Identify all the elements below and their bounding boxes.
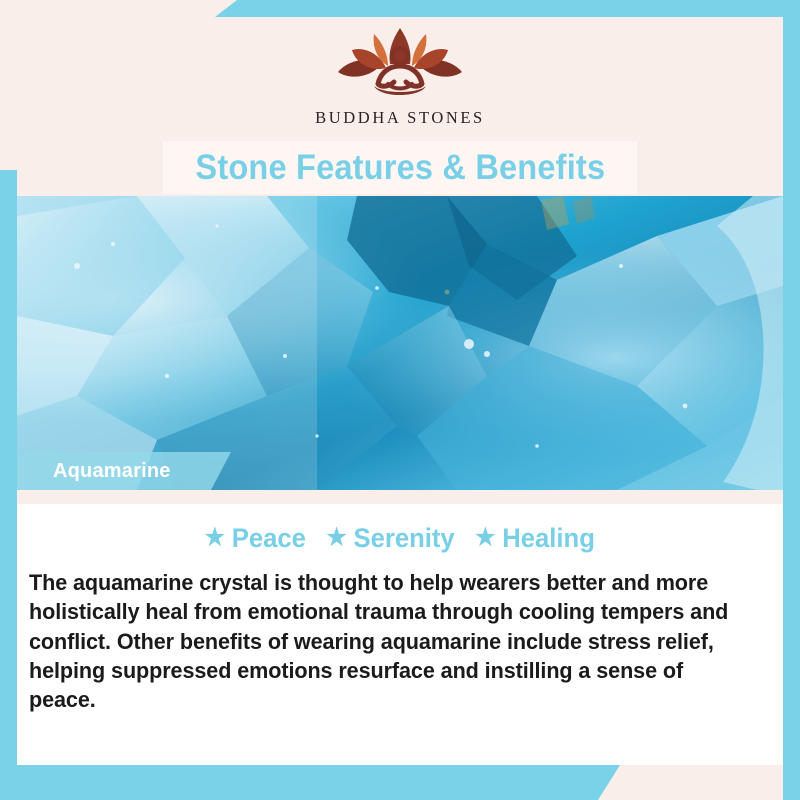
star-icon: ★ <box>475 526 495 550</box>
keyword-label: Healing <box>502 523 595 554</box>
stone-name-label: Aquamarine <box>53 460 171 483</box>
brand-wordmark: BUDDHA STONES <box>315 108 485 128</box>
frame-left-accent <box>0 170 17 800</box>
star-icon: ★ <box>205 526 225 550</box>
keyword-list: ★ Peace ★ Serenity ★ Healing <box>17 514 783 562</box>
keyword-item-serenity: ★ Serenity <box>326 523 454 554</box>
frame-bottom-accent <box>0 765 620 800</box>
keyword-item-healing: ★ Healing <box>475 523 595 554</box>
content-area: ★ Peace ★ Serenity ★ Healing The aquamar… <box>17 504 783 765</box>
frame-top-accent <box>215 0 800 17</box>
hero-image <box>17 196 783 490</box>
frame-right-accent <box>783 0 800 800</box>
divider-strip <box>17 490 783 504</box>
star-icon: ★ <box>326 526 346 550</box>
aquamarine-crystal-photo <box>17 196 783 490</box>
description-text: The aquamarine crystal is thought to hel… <box>29 568 741 714</box>
brand-logo: BUDDHA STONES <box>0 22 800 128</box>
title-band: Stone Features & Benefits <box>163 141 637 194</box>
page-title: Stone Features & Benefits <box>195 148 605 188</box>
infographic-page: BUDDHA STONES Stone Features & Benefits <box>0 0 800 800</box>
lotus-meditation-figure-icon <box>330 22 470 106</box>
header-left-padding <box>0 0 215 17</box>
stone-name-banner: Aquamarine <box>17 452 231 490</box>
keyword-label: Peace <box>232 523 306 554</box>
keyword-item-peace: ★ Peace <box>205 523 306 554</box>
keyword-label: Serenity <box>353 523 454 554</box>
